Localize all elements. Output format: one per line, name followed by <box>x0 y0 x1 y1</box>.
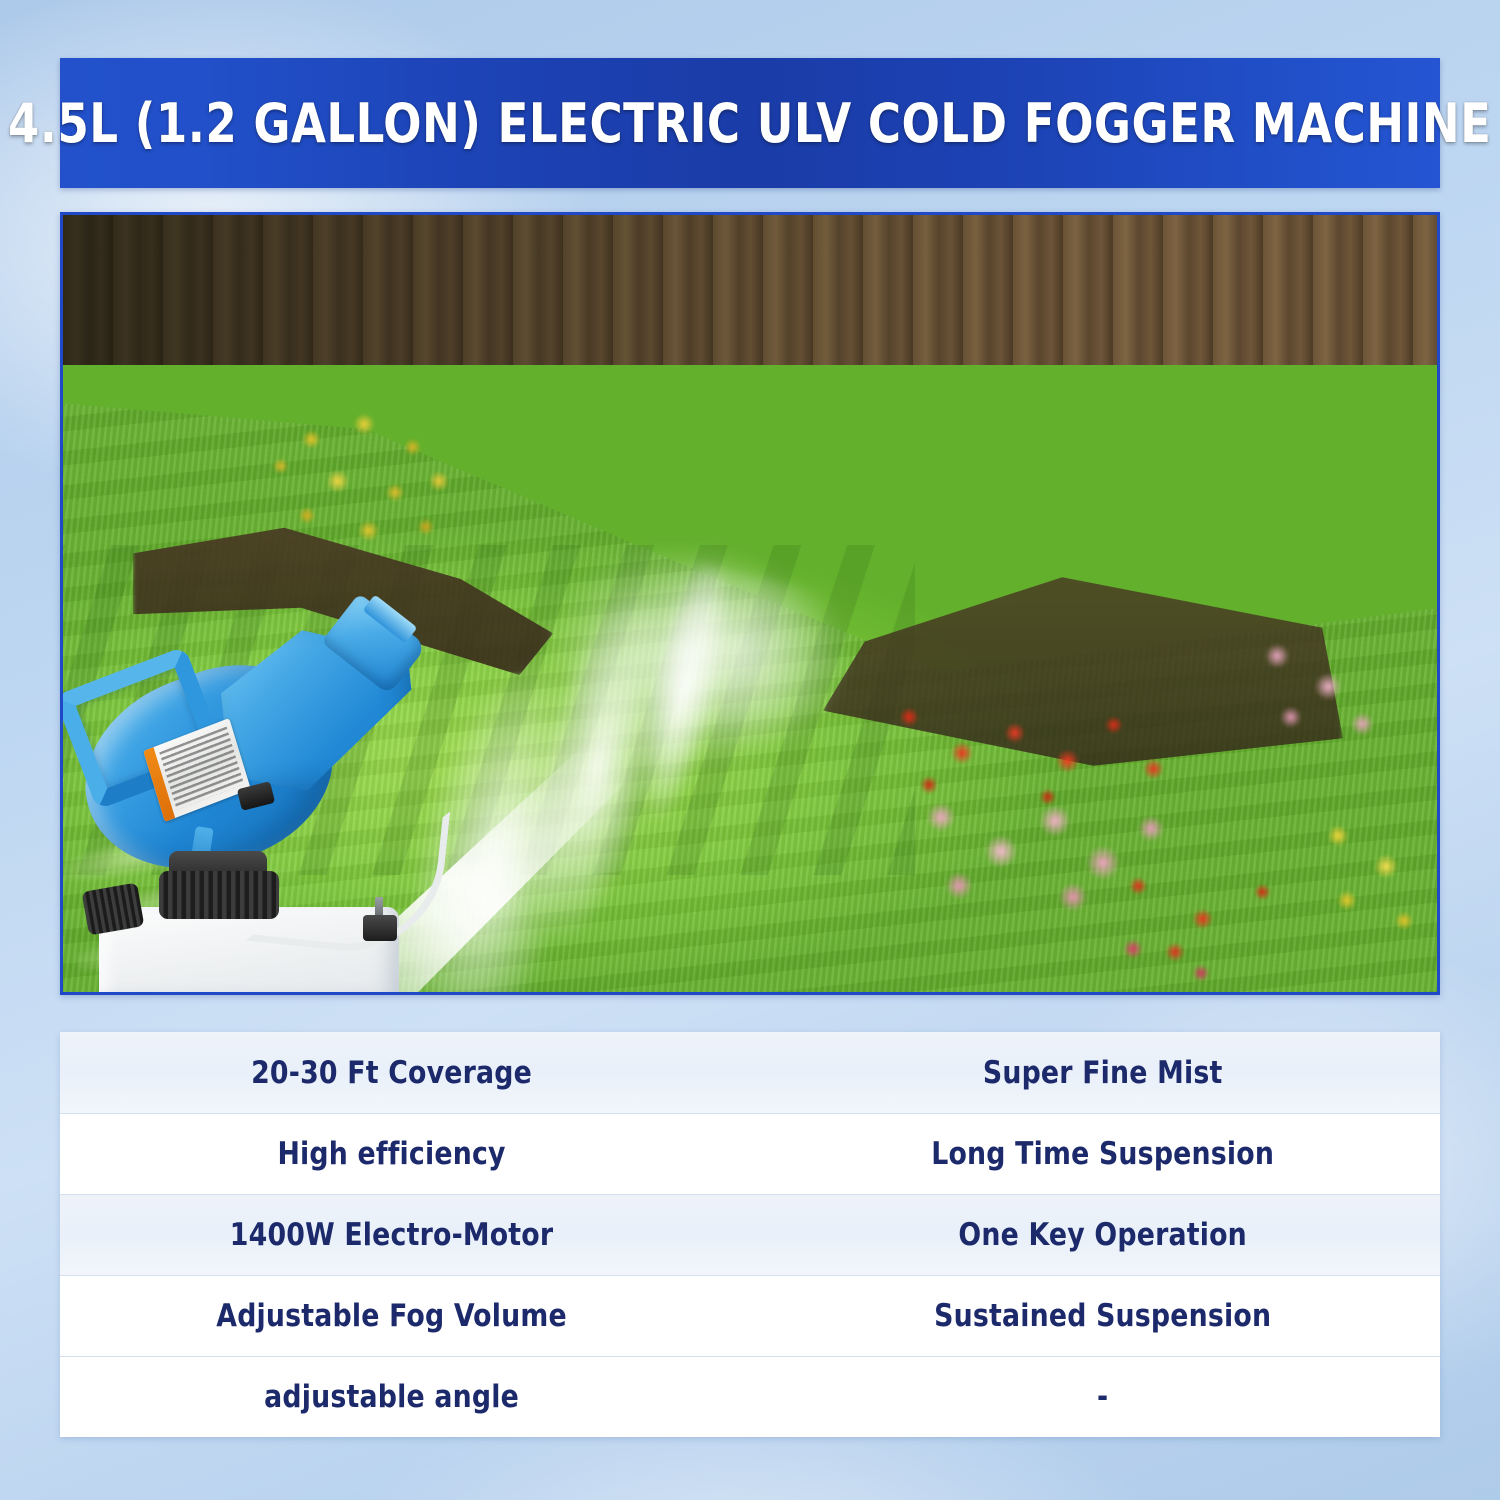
feature-cell-right: Super Fine Mist <box>764 1055 1426 1091</box>
feature-cell-left: 1400W Electro-Motor <box>74 1217 736 1253</box>
yellow-flowers-graphic <box>1293 795 1440 965</box>
product-photo <box>60 212 1440 995</box>
product-infographic: 4.5L (1.2 GALLON) ELECTRIC ULV COLD FOGG… <box>0 0 1500 1500</box>
fogger-tank-cap <box>159 871 279 919</box>
feature-cell-right: One Key Operation <box>764 1217 1426 1253</box>
feature-cell-left: 20-30 Ft Coverage <box>74 1055 736 1091</box>
feature-cell-right: Sustained Suspension <box>764 1298 1426 1334</box>
fogger-machine <box>63 615 443 995</box>
table-row: 1400W Electro-Motor One Key Operation <box>60 1194 1440 1275</box>
feature-cell-left: adjustable angle <box>74 1379 736 1415</box>
feature-cell-left: High efficiency <box>74 1136 736 1172</box>
table-row: Adjustable Fog Volume Sustained Suspensi… <box>60 1275 1440 1356</box>
page-title: 4.5L (1.2 GALLON) ELECTRIC ULV COLD FOGG… <box>8 92 1492 155</box>
table-row: High efficiency Long Time Suspension <box>60 1113 1440 1194</box>
feature-cell-right: - <box>764 1379 1426 1415</box>
pink-roses-graphic <box>1233 605 1403 775</box>
feature-cell-left: Adjustable Fog Volume <box>74 1298 736 1334</box>
table-row: 20-30 Ft Coverage Super Fine Mist <box>60 1032 1440 1113</box>
magenta-flowers-graphic <box>1073 905 1273 995</box>
fogger-valve <box>363 915 397 941</box>
table-row: adjustable angle - <box>60 1356 1440 1437</box>
feature-table: 20-30 Ft Coverage Super Fine Mist High e… <box>60 1032 1440 1437</box>
feature-cell-right: Long Time Suspension <box>764 1136 1426 1172</box>
title-banner: 4.5L (1.2 GALLON) ELECTRIC ULV COLD FOGG… <box>60 58 1440 188</box>
